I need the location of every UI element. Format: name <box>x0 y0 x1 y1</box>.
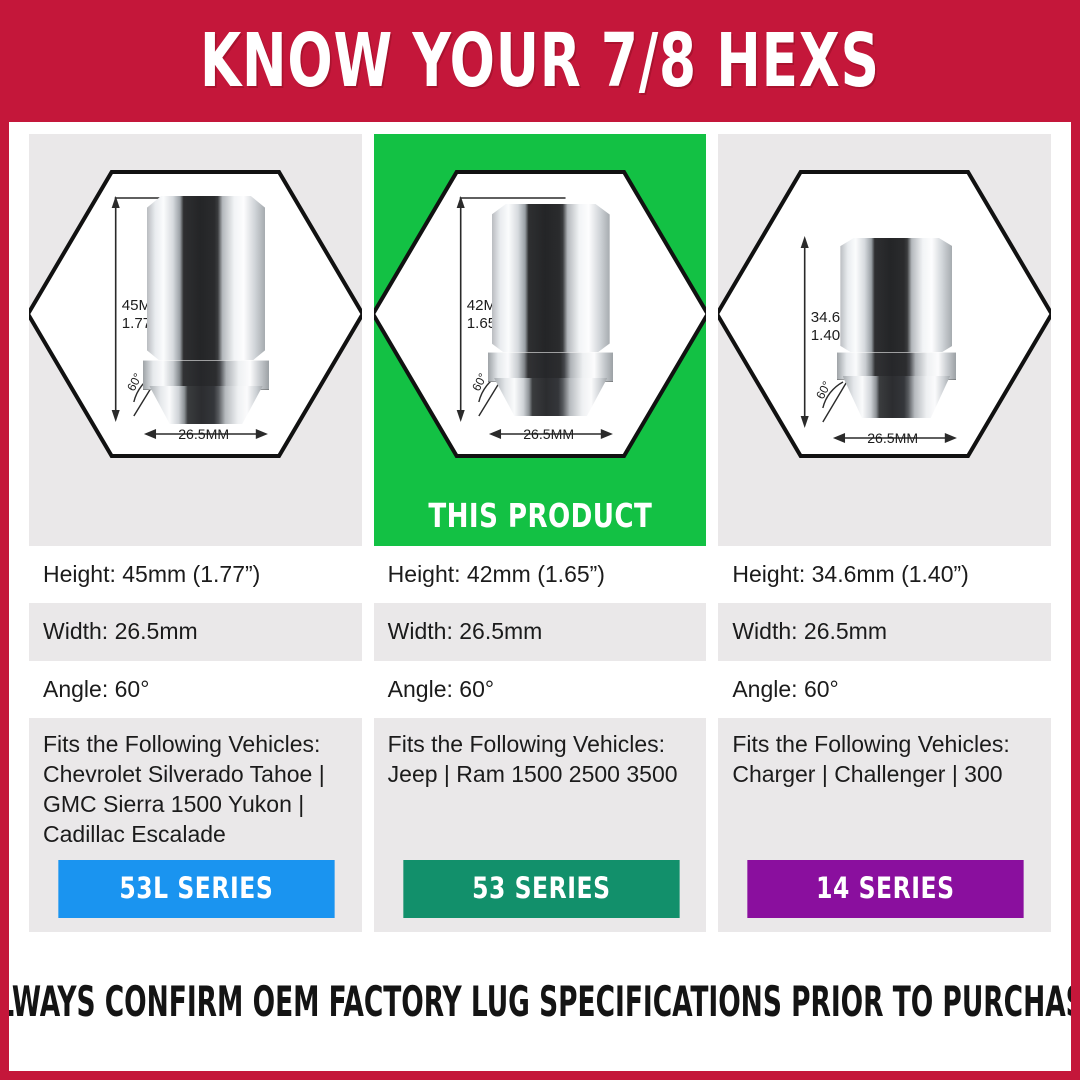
comparison-columns: 45MM 1.77" 60° 26.5MM Height: 45mm (1.77… <box>9 122 1071 932</box>
height-dimension-label-in: 1.40" <box>811 327 846 344</box>
diagram-tile-1: 45MM 1.77" 60° 26.5MM <box>29 134 362 546</box>
footer-disclaimer: **ALWAYS CONFIRM OEM FACTORY LUG SPECIFI… <box>9 932 1071 1071</box>
hexagon-outline-icon: 45MM 1.77" 60° 26.5MM <box>29 134 362 546</box>
series-badge-3[interactable]: 14 SERIES <box>748 860 1024 918</box>
width-dimension-label: 26.5MM <box>868 430 919 446</box>
spec-angle-3: Angle: 60° <box>718 661 1051 718</box>
width-dimension-label: 26.5MM <box>178 426 229 442</box>
this-product-banner: THIS PRODUCT <box>394 484 687 546</box>
height-dimension-label-in: 1.65" <box>466 315 501 332</box>
spec-angle-2: Angle: 60° <box>374 661 707 718</box>
fits-vehicle-line: Jeep | Ram 1500 2500 3500 <box>388 760 695 790</box>
fits-title-1: Fits the Following Vehicles: <box>43 730 350 760</box>
content-frame: 45MM 1.77" 60° 26.5MM Height: 45mm (1.77… <box>9 122 1071 1071</box>
product-column-2: 42MM 1.65" 60° 26.5MM THIS PRODUCT <box>374 134 707 932</box>
height-dimension-label-mm: 45MM <box>122 297 164 314</box>
fits-title-3: Fits the Following Vehicles: <box>732 730 1039 760</box>
fits-vehicle-line: Charger | Challenger | 300 <box>732 760 1039 790</box>
width-dimension-label: 26.5MM <box>523 426 574 442</box>
fits-title-2: Fits the Following Vehicles: <box>388 730 695 760</box>
diagram-tile-3: 34.6mm 1.40" 60° 26.5MM <box>718 134 1051 546</box>
series-badge-1[interactable]: 53L SERIES <box>58 860 334 918</box>
fits-vehicle-line: GMC Sierra 1500 Yukon | <box>43 790 350 820</box>
disclaimer-text: **ALWAYS CONFIRM OEM FACTORY LUG SPECIFI… <box>9 977 1071 1026</box>
header-banner: KNOW YOUR 7/8 HEXS <box>0 0 1080 122</box>
height-dimension-label-mm: 42MM <box>466 297 508 314</box>
infographic-page: KNOW YOUR 7/8 HEXS <box>0 0 1080 1080</box>
spec-height-1: Height: 45mm (1.77”) <box>29 546 362 603</box>
spec-width-3: Width: 26.5mm <box>718 603 1051 660</box>
fits-panel-2: Fits the Following Vehicles: Jeep | Ram … <box>374 718 707 932</box>
spec-width-2: Width: 26.5mm <box>374 603 707 660</box>
spec-width-1: Width: 26.5mm <box>29 603 362 660</box>
diagram-tile-2: 42MM 1.65" 60° 26.5MM THIS PRODUCT <box>374 134 707 546</box>
height-dimension-label-mm: 34.6mm <box>811 309 866 326</box>
fits-vehicle-line: Chevrolet Silverado Tahoe | <box>43 760 350 790</box>
height-dimension-label-in: 1.77" <box>122 315 157 332</box>
product-column-3: 34.6mm 1.40" 60° 26.5MM Height: 34.6mm (… <box>718 134 1051 932</box>
spec-angle-1: Angle: 60° <box>29 661 362 718</box>
fits-panel-3: Fits the Following Vehicles: Charger | C… <box>718 718 1051 932</box>
spec-height-3: Height: 34.6mm (1.40”) <box>718 546 1051 603</box>
fits-panel-1: Fits the Following Vehicles: Chevrolet S… <box>29 718 362 932</box>
spec-height-2: Height: 42mm (1.65”) <box>374 546 707 603</box>
series-badge-2[interactable]: 53 SERIES <box>403 860 679 918</box>
product-column-1: 45MM 1.77" 60° 26.5MM Height: 45mm (1.77… <box>29 134 362 932</box>
fits-vehicle-line: Cadillac Escalade <box>43 820 350 850</box>
hexagon-outline-icon: 34.6mm 1.40" 60° 26.5MM <box>718 134 1051 546</box>
page-title: KNOW YOUR 7/8 HEXS <box>200 18 880 104</box>
